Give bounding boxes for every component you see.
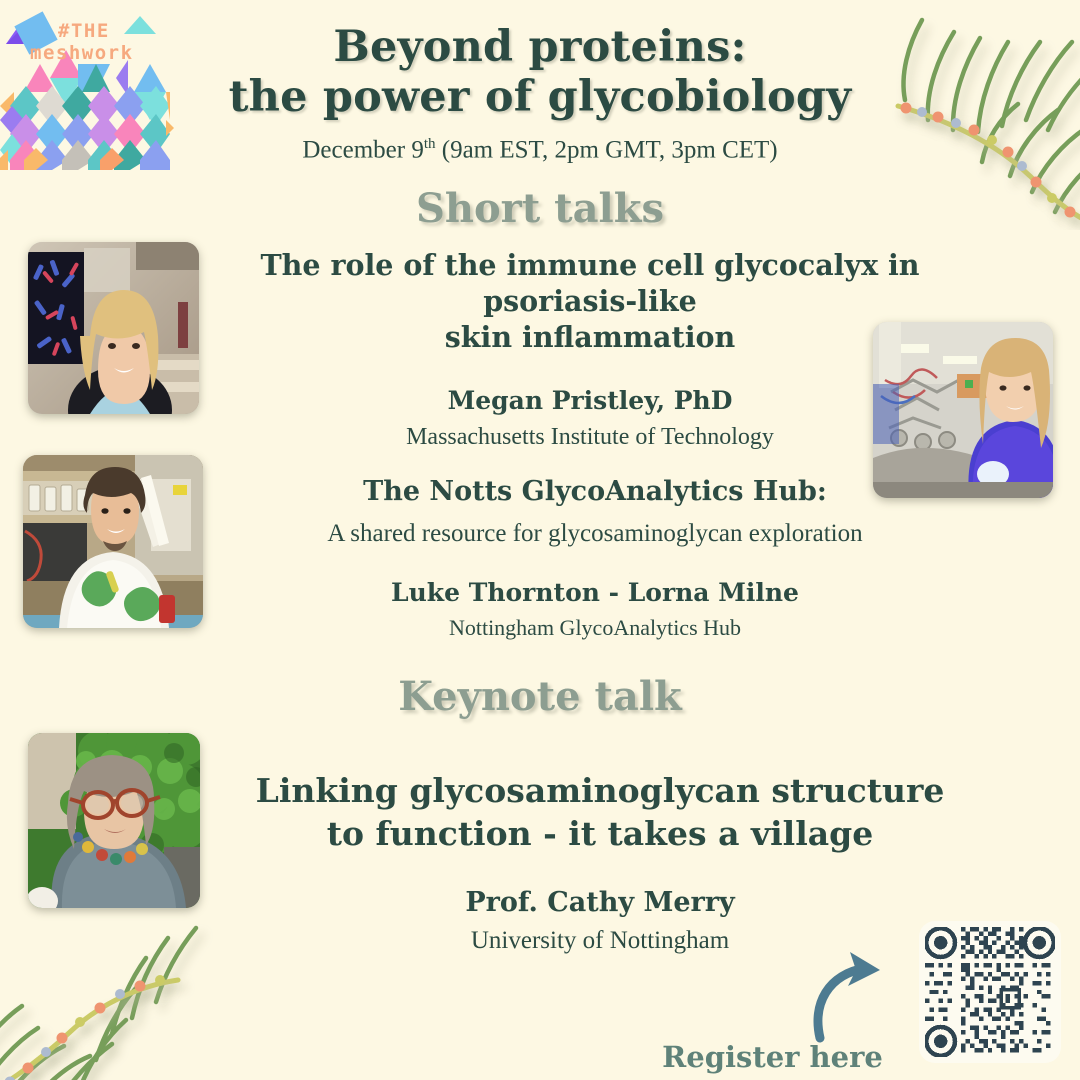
logo-line-2: meshwork: [30, 44, 134, 63]
talk-affiliation: Massachusetts Institute of Technology: [210, 424, 970, 451]
glycan-chain-decoration-top-right: [850, 0, 1080, 230]
talk-title-line-2: skin inflammation: [210, 320, 970, 356]
photo-cathy-merry: [28, 733, 200, 908]
talk-speaker: Megan Pristley, PhD: [210, 386, 970, 415]
talk-title: The Notts GlycoAnalytics Hub:: [230, 475, 960, 509]
talk-title-line-1: The role of the immune cell glycocalyx i…: [210, 248, 970, 320]
talk-subtitle: A shared resource for glycosaminoglycan …: [230, 518, 960, 551]
title-line-2: the power of glycobiology: [200, 72, 880, 122]
photo-luke-thornton: [23, 455, 203, 628]
talk-title: Linking glycosaminoglycan structure to f…: [210, 770, 990, 856]
talk-block-1: The role of the immune cell glycocalyx i…: [210, 248, 970, 451]
webinar-poster: #THE meshwork Beyond proteins: the power…: [0, 0, 1080, 1080]
title-line-1: Beyond proteins:: [200, 22, 880, 72]
photo-megan-pristley: [28, 242, 199, 414]
talk-block-keynote: Linking glycosaminoglycan structure to f…: [210, 770, 990, 955]
talk-title-line-2: to function - it takes a village: [210, 813, 990, 856]
talk-block-2: The Notts GlycoAnalytics Hub: A shared r…: [230, 475, 960, 641]
photo-lab-researcher: [873, 322, 1053, 498]
meshwork-logo[interactable]: #THE meshwork: [0, 0, 180, 170]
talk-speaker: Prof. Cathy Merry: [210, 887, 990, 918]
talk-title: The role of the immune cell glycocalyx i…: [210, 248, 970, 356]
section-heading-keynote: Keynote talk: [200, 673, 880, 720]
section-heading-short-talks: Short talks: [200, 185, 880, 232]
logo-wordmark: #THE meshwork: [58, 22, 134, 63]
date-prefix: December 9: [302, 136, 423, 163]
date-ordinal: th: [424, 136, 436, 152]
logo-line-1: #THE: [58, 20, 110, 42]
talk-affiliation: Nottingham GlycoAnalytics Hub: [230, 615, 960, 641]
event-date: December 9th (9am EST, 2pm GMT, 3pm CET): [200, 136, 880, 164]
talk-speaker: Luke Thornton - Lorna Milne: [230, 578, 960, 607]
curved-arrow-icon: [806, 946, 916, 1046]
talk-title-line-1: Linking glycosaminoglycan structure: [210, 770, 990, 813]
date-suffix: (9am EST, 2pm GMT, 3pm CET): [436, 136, 778, 163]
registration-qr-code[interactable]: [919, 921, 1061, 1063]
page-title: Beyond proteins: the power of glycobiolo…: [200, 22, 880, 123]
